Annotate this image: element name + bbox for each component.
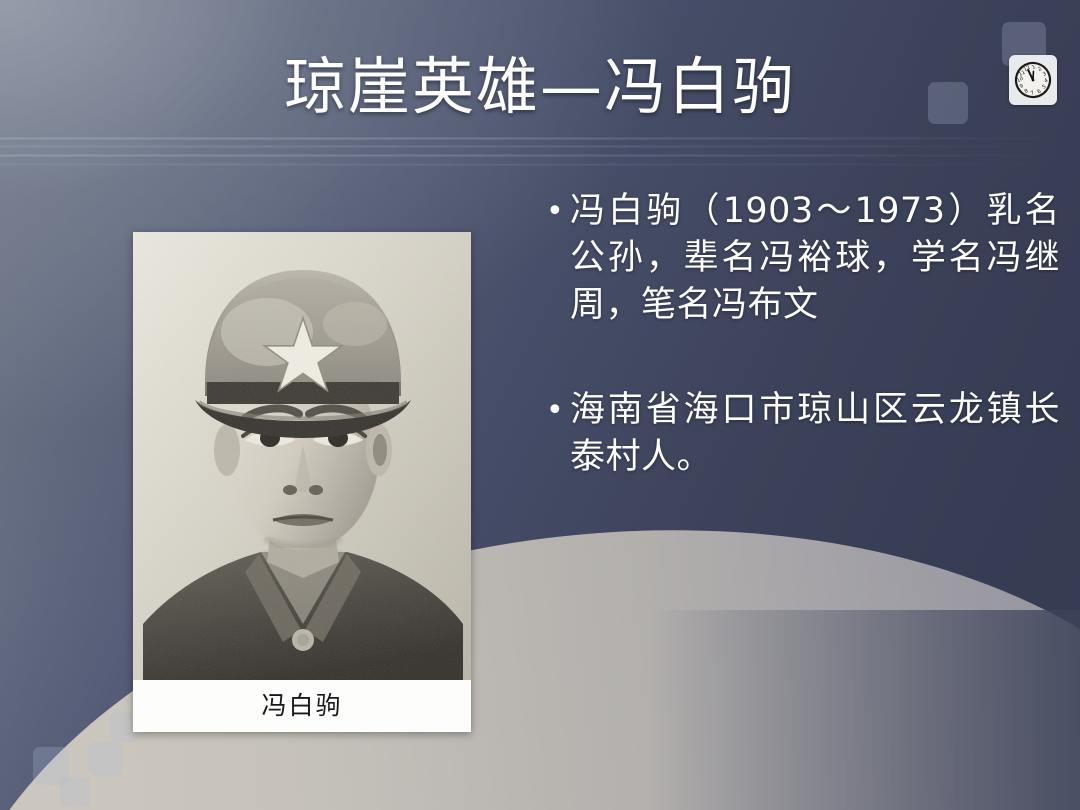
portrait-photo: 冯白驹	[133, 232, 471, 732]
bullet-marker-icon: •	[540, 188, 570, 329]
portrait-image	[133, 232, 471, 680]
photo-caption: 冯白驹	[133, 680, 471, 732]
list-item: • 冯白驹（1903～1973）乳名公孙，辈名冯裕球，学名冯继周，笔名冯布文	[540, 188, 1060, 329]
decorative-square-bottom-left-3	[88, 742, 122, 776]
decorative-streak-lines	[0, 132, 1080, 180]
page-title: 琼崖英雄—冯白驹	[0, 52, 1080, 121]
list-item: • 海南省海口市琼山区云龙镇长泰村人。	[540, 387, 1060, 481]
bullet-list: • 冯白驹（1903～1973）乳名公孙，辈名冯裕球，学名冯继周，笔名冯布文 •…	[540, 188, 1060, 481]
presentation-slide: 12 1 2 3 4 5 6 7 8 9 10 11 琼崖英雄—冯白驹	[0, 0, 1080, 810]
decorative-square-bottom-left-2	[60, 777, 90, 807]
bullet-marker-icon: •	[540, 387, 570, 481]
bullet-text: 海南省海口市琼山区云龙镇长泰村人。	[570, 387, 1060, 481]
bullet-text: 冯白驹（1903～1973）乳名公孙，辈名冯裕球，学名冯继周，笔名冯布文	[570, 188, 1060, 329]
